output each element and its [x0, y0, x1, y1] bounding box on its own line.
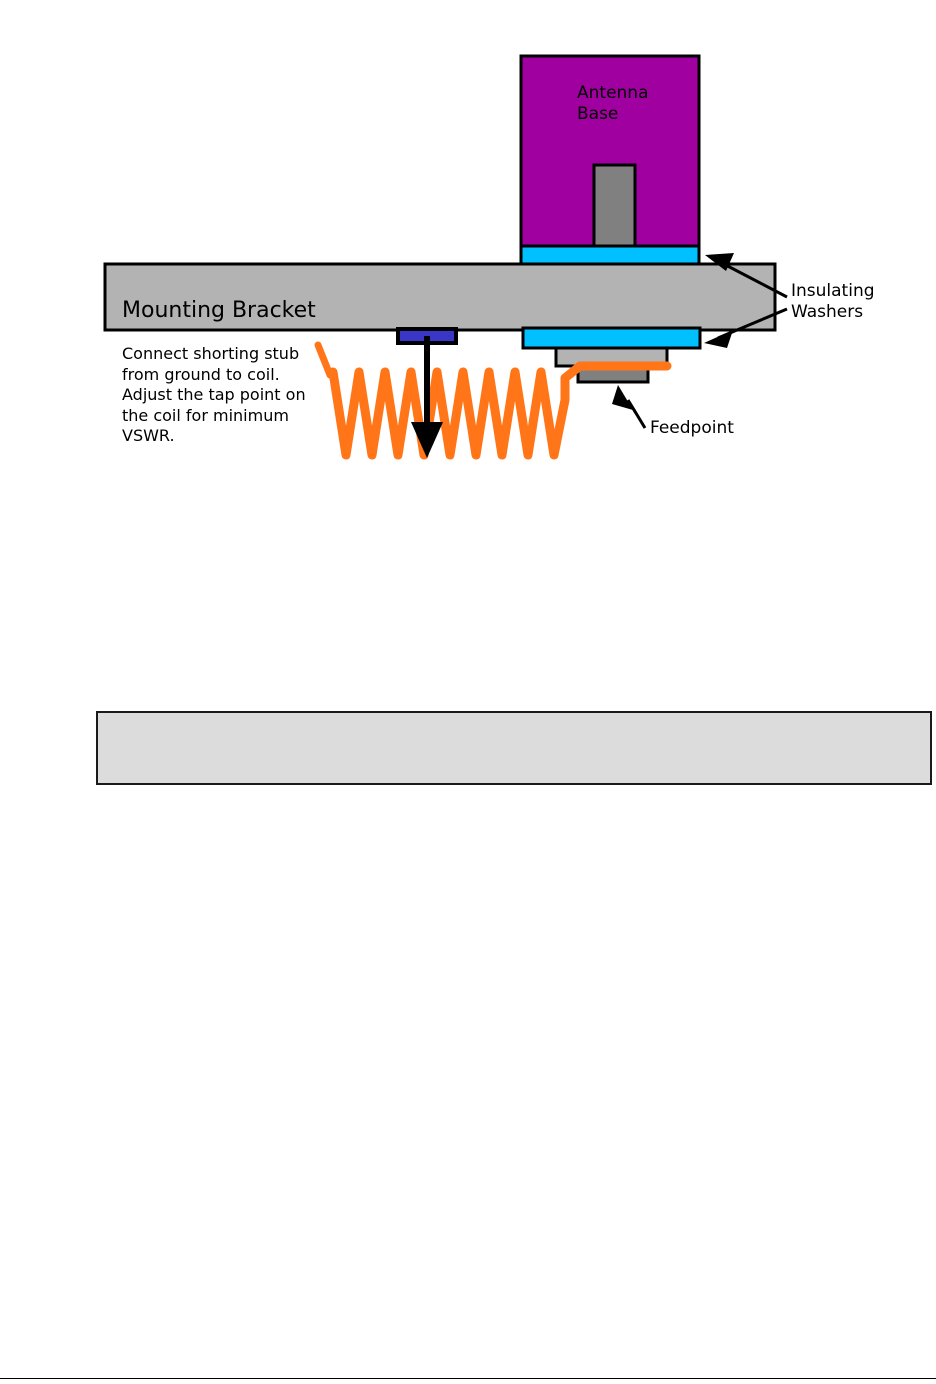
- insulating-washers-label: Insulating Washers: [791, 281, 875, 323]
- feedpoint-label: Feedpoint: [650, 420, 734, 437]
- mounting-bracket-label: Mounting Bracket: [122, 300, 316, 322]
- page-footer-rule: [0, 1378, 936, 1379]
- feedpoint-leader: [628, 400, 645, 428]
- bottom-content-panel: [96, 711, 932, 785]
- lower-insulating-washer: [523, 328, 700, 348]
- tap-point-arrow-head: [411, 422, 443, 458]
- antenna-mount-diagram: [0, 0, 936, 1384]
- shorting-stub-note: Connect shorting stub from ground to coi…: [122, 344, 322, 447]
- antenna-base-label: Antenna Base: [577, 83, 649, 125]
- feedpoint-arrowhead: [612, 385, 633, 410]
- insulating-washer-lower-arrowhead: [704, 330, 733, 348]
- antenna-stud: [594, 165, 635, 248]
- diagram-page: Antenna Base Mounting Bracket Connect sh…: [0, 0, 936, 1384]
